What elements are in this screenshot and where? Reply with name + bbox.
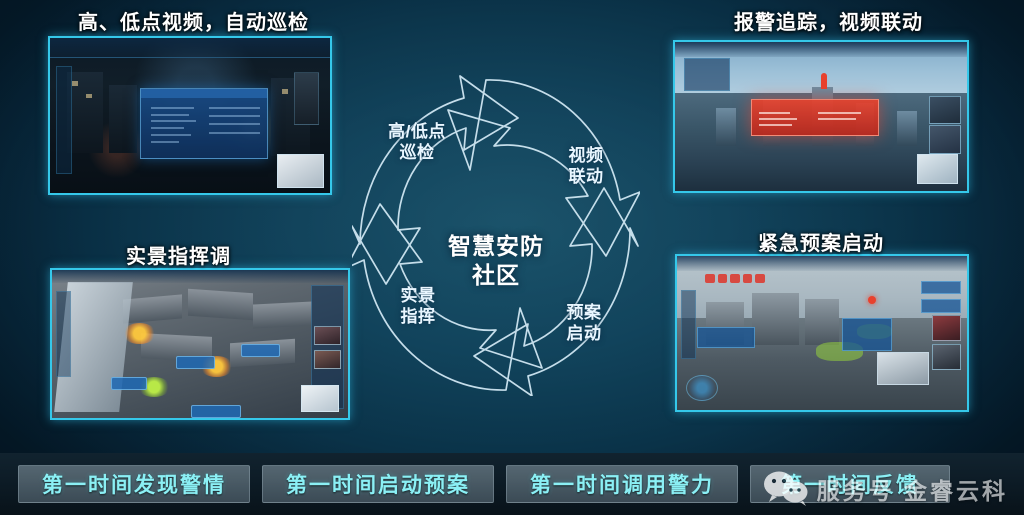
banner-item-label: 第一时间反馈 <box>781 469 919 499</box>
plan-tool-rail <box>681 290 696 359</box>
city-3d-scene <box>675 42 967 191</box>
video-tool-sidebar <box>56 66 73 175</box>
banner-item-label: 第一时间启动预案 <box>286 469 470 499</box>
building-shape <box>109 85 137 153</box>
live-scene-command-panel[interactable] <box>50 268 350 420</box>
heat-marker <box>123 323 156 344</box>
radar-widget <box>686 375 718 401</box>
scene-label-tag <box>191 405 241 418</box>
cycle-step-label-high-low-inspection: 高/低点 巡检 <box>362 122 472 163</box>
alert-text-row <box>759 112 789 114</box>
video-toolbar-strip <box>50 38 330 58</box>
info-card <box>921 299 962 313</box>
window-light <box>282 89 288 94</box>
top-right-panel-title: 报警追踪，视频联动 <box>734 6 923 35</box>
inspection-dialog <box>140 88 269 159</box>
video-corner-thumbnail <box>277 154 325 188</box>
dialog-table-row <box>209 107 260 109</box>
scene-label-tag <box>241 344 279 357</box>
bottom-banner: 第一时间发现警情 第一时间启动预案 第一时间调用警力 第一时间反馈 <box>0 453 1024 515</box>
street-emergency-scene <box>677 256 967 410</box>
plan-header-bar <box>677 256 967 271</box>
emergency-plan-activation-panel[interactable] <box>675 254 969 412</box>
dialog-text-row <box>151 114 189 116</box>
banner-item-feedback[interactable]: 第一时间反馈 <box>750 465 950 503</box>
operator-video-tile <box>929 125 961 153</box>
building-shape <box>805 299 840 345</box>
command-header-bar <box>52 270 348 283</box>
operator-video-tile <box>932 344 961 370</box>
camera-feed-thumbnail <box>877 352 929 386</box>
map-pin-icon <box>821 73 827 89</box>
alarm-tracking-video-linkage-panel[interactable] <box>673 40 969 193</box>
alert-text-row <box>759 124 792 126</box>
operator-video-tile <box>314 326 341 345</box>
dialog-text-row <box>151 134 192 136</box>
rooftop-shape <box>188 288 253 319</box>
banner-item-dispatch-police[interactable]: 第一时间调用警力 <box>506 465 738 503</box>
dialog-header <box>141 89 268 99</box>
plan-step <box>755 274 765 283</box>
plan-step <box>730 274 740 283</box>
dialog-table-row <box>209 123 260 125</box>
command-tool-rail <box>56 291 71 377</box>
info-card <box>842 318 891 352</box>
alert-text-row <box>759 118 797 120</box>
high-low-point-video-panel[interactable] <box>48 36 332 195</box>
top-left-panel-title: 高、低点视频，自动巡检 <box>78 6 309 35</box>
plan-step <box>718 274 728 283</box>
dialog-text-row <box>151 141 179 143</box>
slide-canvas: 高、低点视频，自动巡检 <box>0 0 1024 515</box>
night-street-video-scene <box>50 38 330 193</box>
info-card <box>697 327 755 349</box>
bottom-left-panel-title: 实景指挥调 <box>126 240 231 269</box>
rooftop-shape <box>253 301 312 328</box>
operator-video-tile <box>314 350 341 369</box>
banner-item-label: 第一时间调用警力 <box>530 469 714 499</box>
scene-label-tag <box>111 377 147 390</box>
dialog-text-row <box>151 127 184 129</box>
cycle-step-label-live-command: 实景 指挥 <box>376 286 460 327</box>
info-panel-left <box>684 58 731 91</box>
building-shape <box>716 108 736 147</box>
cycle-arrow-3 <box>474 188 638 396</box>
platform-header-bar <box>675 42 967 57</box>
rooftop-shape <box>123 294 182 323</box>
dialog-text-row <box>151 107 194 109</box>
smart-security-cycle-diagram: 高/低点 巡检 视频 联动 预案 启动 实景 指挥 智慧安防 社区 <box>352 46 640 396</box>
aerial-village-scene <box>52 270 348 418</box>
window-light <box>72 81 78 86</box>
corner-thumbnail <box>301 385 339 412</box>
minimap-thumbnail <box>917 154 958 184</box>
cycle-step-label-plan-activation: 预案 启动 <box>542 303 626 344</box>
scene-label-tag <box>176 356 214 369</box>
operator-video-tile <box>932 315 961 341</box>
banner-item-label: 第一时间发现警情 <box>42 469 226 499</box>
alert-text-row <box>818 118 856 120</box>
dialog-text-row <box>151 120 197 122</box>
bottom-right-panel-title: 紧急预案启动 <box>758 227 884 256</box>
building-shape <box>897 111 917 147</box>
banner-item-discover-alarm[interactable]: 第一时间发现警情 <box>18 465 250 503</box>
alert-text-row <box>818 112 861 114</box>
banner-item-activate-plan[interactable]: 第一时间启动预案 <box>262 465 494 503</box>
info-card <box>921 281 962 295</box>
plan-step-indicator <box>700 271 770 285</box>
alarm-alert-card <box>751 99 879 136</box>
building-shape <box>752 293 798 345</box>
window-light <box>86 94 92 99</box>
plan-step <box>743 274 753 283</box>
cycle-step-label-video-linkage: 视频 联动 <box>544 146 628 187</box>
dialog-table-row <box>209 115 260 117</box>
dialog-table-row <box>209 132 260 134</box>
operator-video-tile <box>929 96 961 124</box>
cycle-center-label: 智慧安防 社区 <box>352 232 640 290</box>
plan-step <box>705 274 715 283</box>
video-side-widget <box>294 72 319 125</box>
